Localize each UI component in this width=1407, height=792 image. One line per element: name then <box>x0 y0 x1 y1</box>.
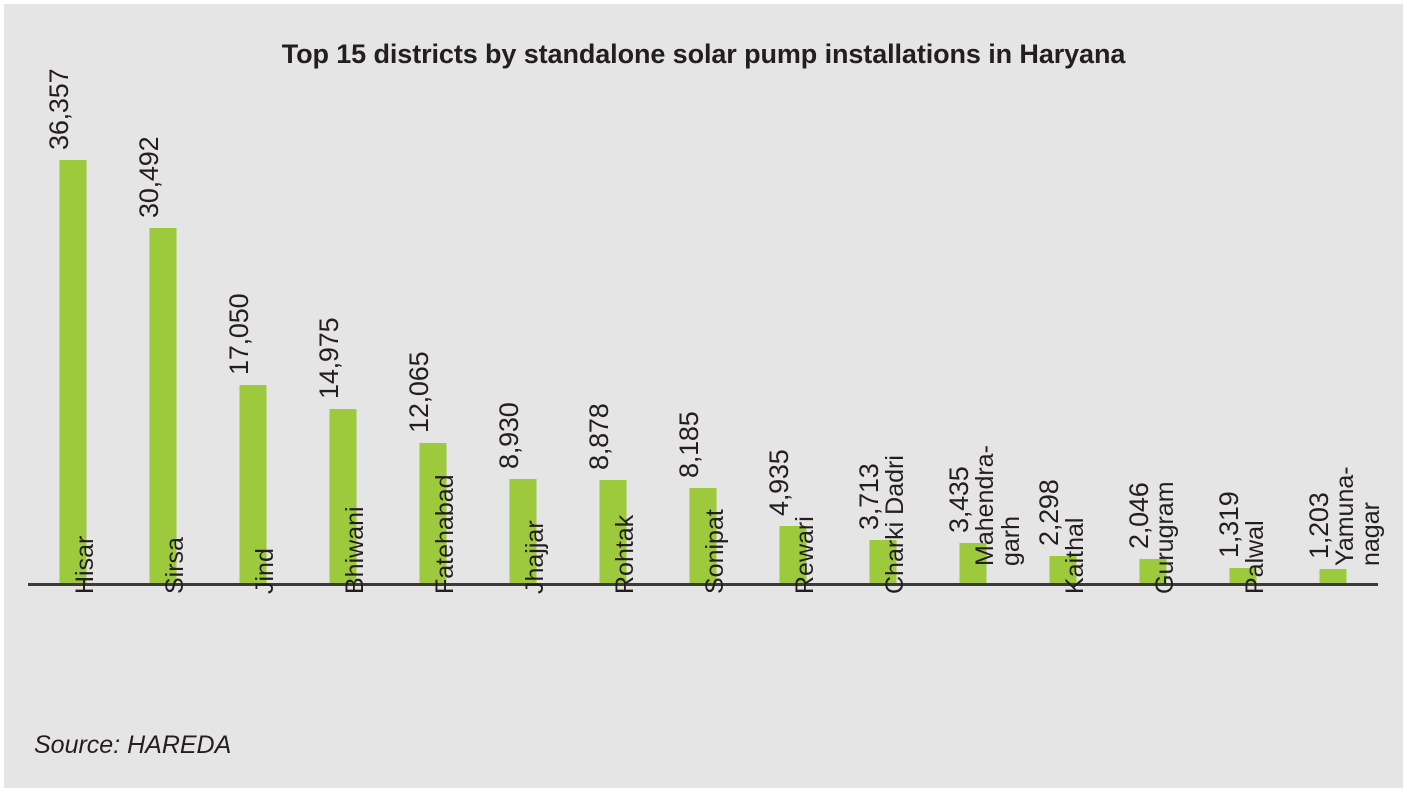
x-tick-label-text: Fatehabad <box>433 474 459 594</box>
bar-column: 4,935 <box>748 80 838 583</box>
x-tick-label-text: Yamuna- nagar <box>1333 466 1384 566</box>
x-tick-label: Sonipat <box>658 594 748 724</box>
bar[interactable] <box>1320 569 1347 583</box>
bar-column: 8,878 <box>568 80 658 583</box>
bar-value-label: 17,050 <box>226 294 253 375</box>
x-tick-label-text: Rohtak <box>613 515 639 594</box>
x-tick-label: Charki Dadri <box>838 594 928 724</box>
bar-column: 8,930 <box>478 80 568 583</box>
x-tick-label-text: Bhiwani <box>343 506 369 594</box>
bar-value-label: 1,203 <box>1306 492 1333 559</box>
bar-value-label: 14,975 <box>316 318 343 399</box>
bar-value-label: 8,878 <box>586 403 613 470</box>
bar-value-label: 3,435 <box>946 466 973 533</box>
bar-value-label: 30,492 <box>136 137 163 218</box>
bar-column: 2,298 <box>1018 80 1108 583</box>
x-tick-label: Jind <box>208 594 298 724</box>
bar-column: 8,185 <box>658 80 748 583</box>
x-tick-label: Rohtak <box>568 594 658 724</box>
x-tick-label: Jhajjar <box>478 594 568 724</box>
x-tick-label-text: Jind <box>253 548 279 594</box>
source-note: Source: HAREDA <box>34 731 231 760</box>
bar-value-label: 36,357 <box>46 69 73 150</box>
x-tick-label: Hisar <box>28 594 118 724</box>
x-tick-label: Bhiwani <box>298 594 388 724</box>
x-tick-label: Fatehabad <box>388 594 478 724</box>
bar-value-label: 1,319 <box>1216 491 1243 558</box>
bar[interactable] <box>60 160 87 583</box>
page-title: Top 15 districts by standalone solar pum… <box>4 40 1403 70</box>
bar-value-label: 2,298 <box>1036 479 1063 546</box>
bar-value-label: 8,185 <box>676 411 703 478</box>
bar-value-label: 8,930 <box>496 402 523 469</box>
bar-column: 17,050 <box>208 80 298 583</box>
bar-column: 1,319 <box>1198 80 1288 583</box>
x-tick-label-text: Sonipat <box>703 509 729 594</box>
bar-column: 30,492 <box>118 80 208 583</box>
x-tick-label: Kaithal <box>1018 594 1108 724</box>
bar-value-label: 2,046 <box>1126 482 1153 549</box>
x-tick-label-text: Kaithal <box>1063 518 1089 594</box>
chart-plate: Top 15 districts by standalone solar pum… <box>4 4 1403 788</box>
bar-value-label: 3,713 <box>856 463 883 530</box>
x-axis-tick-labels: HisarSirsaJindBhiwaniFatehabadJhajjarRoh… <box>28 594 1378 724</box>
x-tick-label-text: Jhajjar <box>523 520 549 594</box>
bar-column: 36,357 <box>28 80 118 583</box>
x-tick-label: Palwal <box>1198 594 1288 724</box>
x-tick-label-text: Charki Dadri <box>883 455 909 594</box>
x-tick-label-text: Palwal <box>1243 520 1269 594</box>
x-tick-label-text: Hisar <box>73 536 99 594</box>
x-tick-label-text: Mahendra- garh <box>973 445 1024 566</box>
x-tick-label-text: Sirsa <box>163 537 189 594</box>
bar-value-label: 12,065 <box>406 352 433 433</box>
x-tick-label: Gurugram <box>1108 594 1198 724</box>
x-tick-label: Rewari <box>748 594 838 724</box>
x-tick-label-text: Gurugram <box>1153 481 1179 594</box>
chart-figure: Top 15 districts by standalone solar pum… <box>0 0 1407 792</box>
x-tick-label-text: Rewari <box>793 516 819 594</box>
bar[interactable] <box>150 228 177 583</box>
x-tick-label: Sirsa <box>118 594 208 724</box>
x-tick-label: Yamuna- nagar <box>1288 594 1378 724</box>
x-tick-label: Mahendra- garh <box>928 594 1018 724</box>
bar-value-label: 4,935 <box>766 449 793 516</box>
